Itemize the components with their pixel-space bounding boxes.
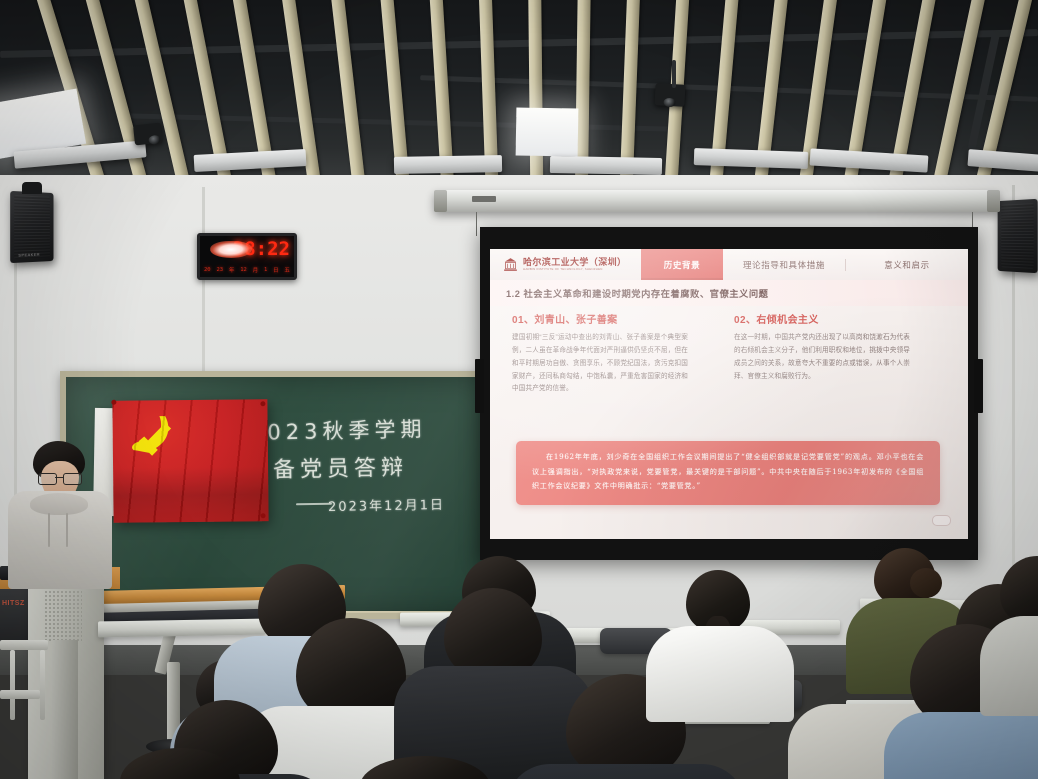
clock-date-row: 20 23 年 12 月 1 日 五 xyxy=(204,265,290,274)
blackboard-line-1: 2023秋季学期 xyxy=(249,413,427,447)
hoodie-drawstring xyxy=(66,513,68,547)
tab-significance-and-insights[interactable]: 意义和启示 xyxy=(846,249,968,280)
party-flag xyxy=(112,399,268,523)
wall-speaker-right xyxy=(998,199,1038,273)
tab-historical-background[interactable]: 历史背景 xyxy=(641,249,723,280)
podium-speaker-grille xyxy=(44,582,82,642)
university-logo: 哈尔滨工业大学（深圳） HARBIN INSTITUTE OF TECHNOLO… xyxy=(490,256,641,273)
cabinet-label: HITSZ xyxy=(2,600,25,607)
clock-date-cell: 日 xyxy=(273,266,279,274)
fluorescent-fixture xyxy=(194,149,307,172)
slide-card-row: 01、刘青山、张子善案 建国初期“三反”运动中查出的刘青山、张子善案是个典型案例… xyxy=(490,311,968,396)
presentation-slide: 哈尔滨工业大学（深圳） HARBIN INSTITUTE OF TECHNOLO… xyxy=(490,249,968,539)
blackboard-line-2: 预备党员答辩 xyxy=(246,450,409,485)
clock-date-cell: 1 xyxy=(264,267,267,273)
side-chair-seat-lower xyxy=(0,690,40,699)
ceiling xyxy=(0,0,1038,185)
logo-text-en: HARBIN INSTITUTE OF TECHNOLOGY, SHENZHEN xyxy=(523,268,626,271)
slide-heading-text: 1.2 社会主义革命和建设时期党内存在着腐败、官僚主义问题 xyxy=(490,286,768,300)
slide-card-01: 01、刘青山、张子善案 建国初期“三反”运动中查出的刘青山、张子善案是个典型案例… xyxy=(490,311,712,396)
hair-bun xyxy=(910,568,942,598)
fluorescent-fixture xyxy=(810,148,929,172)
clock-date-cell: 年 xyxy=(229,266,235,274)
slide-quote-box: 在1962年年底，刘少奇在全国组织工作会议期间提出了“健全组织部就是记党要管党”… xyxy=(516,441,940,505)
fluorescent-fixture xyxy=(394,155,502,174)
tab-theory-and-measures[interactable]: 理论指导和具体措施 xyxy=(723,249,845,280)
classroom-photo-scene: SPEAKER 38:22 20 23 年 12 月 1 日 五 2023秋季学… xyxy=(0,0,1038,779)
podium-stem xyxy=(52,640,78,779)
side-chair-seat xyxy=(0,640,48,650)
projector-mount-pole xyxy=(672,60,676,88)
ceiling-projector xyxy=(654,83,685,107)
clock-date-cell: 月 xyxy=(253,266,259,274)
logo-text-cn: 哈尔滨工业大学（深圳） xyxy=(523,258,626,267)
hoodie-drawstring xyxy=(48,513,50,547)
slide-tabs: 历史背景 理论指导和具体措施 意义和启示 xyxy=(641,249,968,280)
slide-section-heading: 1.2 社会主义革命和建设时期党内存在着腐败、官僚主义问题 xyxy=(490,280,968,306)
wall-speaker-left: SPEAKER xyxy=(10,191,53,263)
university-crest-icon xyxy=(502,256,519,273)
screen-roller-housing xyxy=(434,190,1000,212)
card-body: 建国初期“三反”运动中查出的刘青山、张子善案是个典型案例，二人虽在革命战争年代面… xyxy=(512,332,688,396)
quote-text: 在1962年年底，刘少奇在全国组织工作会议期间提出了“健全组织部就是记党要管党”… xyxy=(532,450,924,494)
card-title: 02、右倾机会主义 xyxy=(734,311,934,326)
side-chair-leg xyxy=(10,650,15,720)
slide-page-indicator xyxy=(932,515,951,526)
clock-date-cell: 20 xyxy=(204,267,211,273)
presenter-hood xyxy=(30,493,88,515)
glasses-icon xyxy=(38,473,82,483)
card-body: 在这一时期，中国共产党内还出现了以高岗和饶漱石为代表的右倾机会主义分子，他们利用… xyxy=(734,332,910,383)
clock-date-cell: 12 xyxy=(240,267,247,273)
student-presenter xyxy=(8,441,112,589)
ceiling-light-panel xyxy=(516,107,579,156)
blackboard-line-3: 2023年12月1日 xyxy=(328,494,445,515)
projection-screen: 哈尔滨工业大学（深圳） HARBIN INSTITUTE OF TECHNOLO… xyxy=(480,227,978,560)
clock-date-cell: 五 xyxy=(284,266,290,274)
student-desk-row xyxy=(98,619,266,638)
side-chair-leg xyxy=(40,650,45,720)
slide-nav-bar: 哈尔滨工业大学（深圳） HARBIN INSTITUTE OF TECHNOLO… xyxy=(490,249,968,280)
led-wall-clock: 38:22 20 23 年 12 月 1 日 五 xyxy=(197,233,297,280)
fluorescent-fixture xyxy=(550,156,662,175)
clock-date-cell: 23 xyxy=(216,267,223,273)
ceiling-projector xyxy=(133,123,163,146)
slide-card-02: 02、右倾机会主义 在这一时期，中国共产党内还出现了以高岗和饶漱石为代表的右倾机… xyxy=(712,311,934,396)
card-title: 01、刘青山、张子善案 xyxy=(512,311,712,326)
